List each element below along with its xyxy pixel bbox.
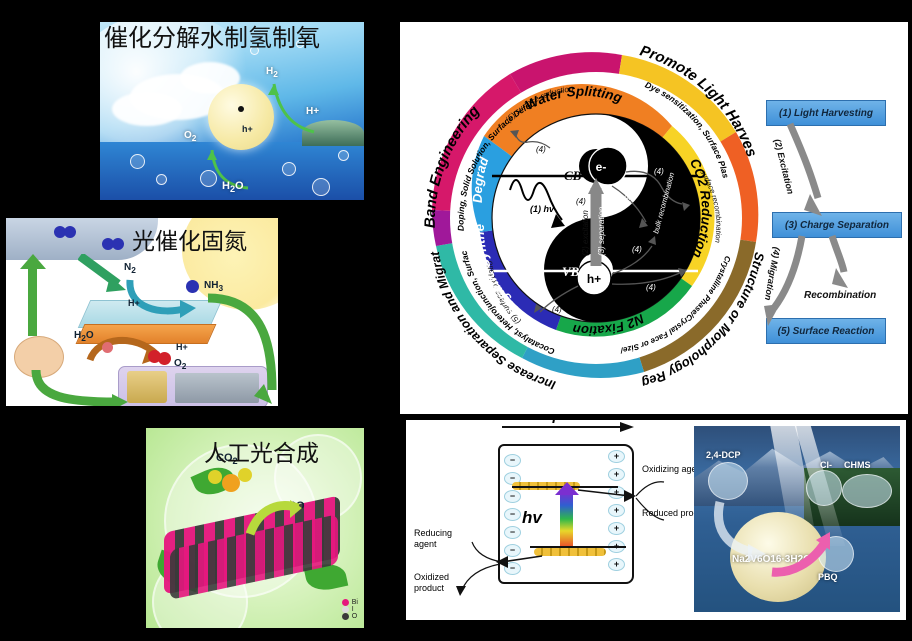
step3-label: (3) separation <box>597 206 606 256</box>
hole-label: h+ <box>242 124 253 134</box>
molecule-intermediate <box>806 470 842 506</box>
step4-label: (4) <box>576 197 586 206</box>
hole-label: h+ <box>587 272 601 286</box>
label-2-4-dcp: 2,4-DCP <box>706 450 741 460</box>
legend: Bi I O <box>342 599 358 620</box>
step4-label: (4) <box>552 305 562 314</box>
panel-ferroelectric-polarization: P − − − − − − − + + + + + + + hv Oxidizi… <box>406 420 906 620</box>
hv-rainbow-arrow <box>560 492 573 546</box>
oxidizing-arrows <box>574 476 682 528</box>
nh3-label: NH3 <box>204 280 223 293</box>
bubble <box>156 174 167 185</box>
legend-swatch-o <box>342 613 349 620</box>
negative-charge: − <box>504 490 521 503</box>
title-artificial-photosynthesis: 人工光合成 <box>204 434 319 468</box>
step4-label: (4) <box>632 245 642 254</box>
o2-label: O2 <box>174 358 186 371</box>
electron-dot <box>238 106 244 112</box>
o2-label: O2 <box>184 130 196 143</box>
water-molecule <box>102 342 113 353</box>
bubble <box>312 178 330 196</box>
step4-label: (4) <box>536 145 546 154</box>
legend-label-o: O <box>352 613 357 620</box>
polarization-arrowhead <box>620 420 636 434</box>
positive-charge: + <box>608 558 625 571</box>
molecule-2-4-dcp <box>708 462 748 500</box>
label-reducing-agent: Reducing agent <box>414 528 470 550</box>
co2-atom-o <box>238 468 252 482</box>
negative-charge: − <box>504 454 521 467</box>
polarization-label: P <box>552 420 561 426</box>
o2-molecule <box>158 352 171 365</box>
vb-label: VB <box>562 264 580 279</box>
bubble <box>130 154 145 169</box>
label-recombination: Recombination <box>804 290 876 301</box>
title-water-splitting: 催化分解水制氢制氧 <box>104 18 320 53</box>
h2o-label: H2O <box>222 180 244 194</box>
arrow-excitation <box>760 120 850 220</box>
title-nitrogen-fixation: 光催化固氮 <box>132 222 247 256</box>
polarization-axis <box>502 426 626 428</box>
step2-label: (2) excitation <box>581 210 590 256</box>
label-chms: CHMS <box>844 460 871 470</box>
h2-label: H2 <box>266 66 278 79</box>
photon-label: hv <box>522 508 542 528</box>
bubble <box>338 150 349 161</box>
photocatalysis-scenery-image: 2,4-DCP Cl- CHMS PBQ Na2V6O16·3H2O <box>694 426 900 612</box>
positive-charge: + <box>608 450 625 463</box>
cb-label: CB <box>564 168 582 183</box>
product-arrow <box>768 530 834 580</box>
green-arrow-head <box>20 254 46 270</box>
green-arrow-curve-right <box>202 286 278 406</box>
electron-label: e- <box>596 160 607 174</box>
panel-photocatalysis-wheel: CB VB e- h+ (1) hv (2) excitation (3) se… <box>400 22 908 414</box>
step4-label: (4) <box>624 193 634 202</box>
n2-molecule <box>64 226 76 238</box>
legend-label-bi: Bi <box>352 599 358 606</box>
hplus-label-2: H+ <box>176 342 188 352</box>
arrow-recombination <box>820 234 860 290</box>
cloud-shape <box>112 92 182 126</box>
concentric-ring-diagram: CB VB e- h+ (1) hv (2) excitation (3) se… <box>406 28 786 408</box>
label-chloride: Cl- <box>820 460 832 470</box>
step4-label: (4) <box>654 167 664 176</box>
h2o-label: H2O <box>74 330 94 343</box>
legend-label-i: I <box>352 606 354 613</box>
legend-swatch-bi <box>342 599 349 606</box>
molecule-chms <box>842 474 892 508</box>
step4-label: (4) <box>646 283 656 292</box>
hplus-label: H+ <box>306 106 319 117</box>
co2-atom-o <box>208 470 222 484</box>
negative-charge: − <box>504 508 521 521</box>
nh3-molecule <box>186 280 199 293</box>
n2-label: N2 <box>124 262 136 275</box>
n2-molecule <box>112 238 124 250</box>
legend-swatch-i <box>342 606 349 613</box>
label-oxidized-product: Oxidized product <box>414 572 470 594</box>
n2-to-nh3-arrow <box>124 274 196 320</box>
bubble <box>200 170 217 187</box>
conversion-arrow <box>244 500 304 544</box>
green-arrow-up <box>28 262 37 336</box>
step1-label: (1) hv <box>530 204 555 214</box>
bubble <box>282 162 296 176</box>
h2-arrow <box>258 70 322 140</box>
hplus-label: H+ <box>128 298 140 308</box>
